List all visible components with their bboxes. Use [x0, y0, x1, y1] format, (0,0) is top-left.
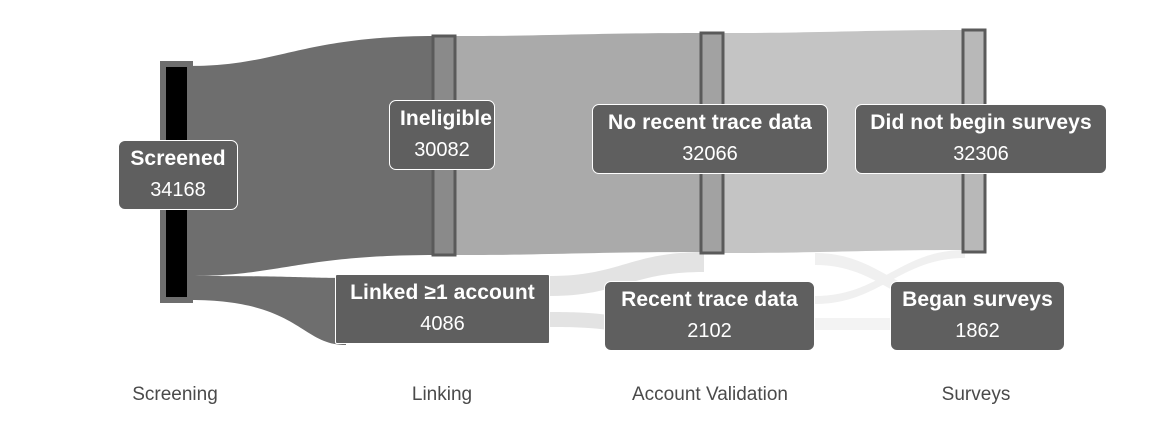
node-value-no-recent-trace: 32066 — [603, 143, 817, 167]
node-label-recent-trace[interactable]: Recent trace data 2102 — [604, 281, 815, 351]
node-value-began-surveys: 1862 — [901, 320, 1054, 344]
node-title-began-surveys: Began surveys — [901, 288, 1054, 313]
node-title-ineligible: Ineligible — [400, 107, 484, 132]
node-title-recent-trace: Recent trace data — [615, 288, 804, 313]
node-label-began-surveys[interactable]: Began surveys 1862 — [890, 281, 1065, 351]
node-title-did-not-begin: Did not begin surveys — [866, 111, 1096, 136]
node-title-no-recent-trace: No recent trace data — [603, 111, 817, 136]
node-label-did-not-begin[interactable]: Did not begin surveys 32306 — [855, 104, 1107, 174]
stage-label-linking: Linking — [412, 384, 472, 406]
node-label-linked[interactable]: Linked ≥1 account 4086 — [335, 274, 550, 344]
node-value-ineligible: 30082 — [400, 139, 484, 163]
node-value-did-not-begin: 32306 — [866, 143, 1096, 167]
node-label-no-recent-trace[interactable]: No recent trace data 32066 — [592, 104, 828, 174]
node-label-ineligible[interactable]: Ineligible 30082 — [389, 100, 495, 170]
sankey-links — [190, 30, 965, 345]
link-linked-to-recent-trace — [550, 312, 612, 330]
node-label-screened[interactable]: Screened 34168 — [118, 140, 238, 210]
node-title-linked: Linked ≥1 account — [346, 281, 539, 306]
sankey-canvas — [0, 0, 1152, 426]
sankey-figure: Screened 34168 Ineligible 30082 No recen… — [0, 0, 1152, 426]
node-title-screened: Screened — [129, 147, 227, 172]
node-value-screened: 34168 — [129, 179, 227, 203]
stage-label-screening: Screening — [132, 384, 218, 406]
stage-label-account-validation: Account Validation — [632, 384, 788, 406]
node-value-recent-trace: 2102 — [615, 320, 804, 344]
node-value-linked: 4086 — [346, 313, 539, 337]
stage-label-surveys: Surveys — [942, 384, 1011, 406]
link-screened-to-linked — [190, 276, 346, 345]
